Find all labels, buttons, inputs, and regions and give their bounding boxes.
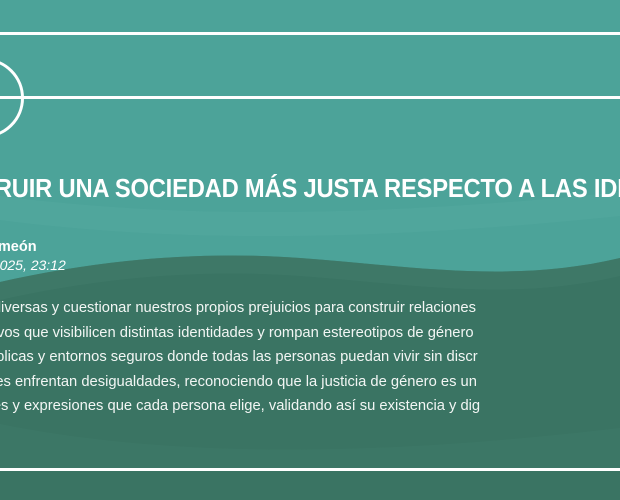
body-line: ronombres y expresiones que cada persona… <box>0 394 620 419</box>
body-line: líticas públicas y entornos seguros dond… <box>0 345 620 370</box>
divider-line-top <box>0 32 620 35</box>
body-line: riencias diversas y cuestionar nuestros … <box>0 296 620 321</box>
body-line: s educativos que visibilicen distintas i… <box>0 321 620 346</box>
body-text: riencias diversas y cuestionar nuestros … <box>0 296 620 419</box>
divider-line-middle <box>0 96 620 99</box>
body-line: r a quienes enfrentan desigualdades, rec… <box>0 370 620 395</box>
divider-line-bottom <box>0 468 620 471</box>
publish-timestamp: re de 2025, 23:12 <box>0 256 456 275</box>
poster-canvas: NSTRUIR UNA SOCIEDAD MÁS JUSTA RESPECTO … <box>0 0 620 500</box>
page-title: NSTRUIR UNA SOCIEDAD MÁS JUSTA RESPECTO … <box>0 174 620 204</box>
byline: oza Simeón re de 2025, 23:12 <box>0 238 456 275</box>
author-name: oza Simeón <box>0 238 456 256</box>
